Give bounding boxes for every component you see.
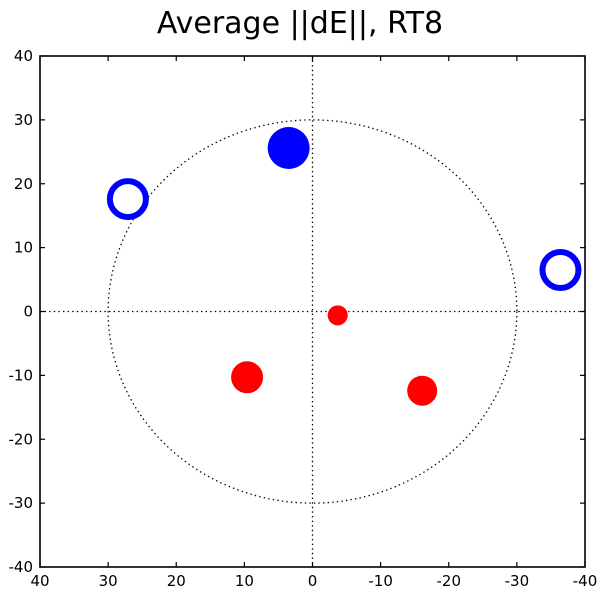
y-tick-label: 40 (14, 47, 33, 65)
data-point-red-center (328, 305, 348, 325)
data-point-blue-filled-top (268, 127, 310, 169)
y-tick-label: 10 (14, 239, 33, 257)
x-tick-label: -10 (368, 572, 393, 590)
chart-figure: Average ||dE||, RT8 403020100-10-20-30-4… (0, 0, 600, 600)
y-tick-label: -10 (9, 366, 34, 384)
y-tick-label: -40 (9, 558, 34, 576)
y-tick-label: 0 (23, 303, 33, 321)
x-tick-label: 10 (235, 572, 254, 590)
x-tick-label: -30 (505, 572, 530, 590)
x-tick-label: 30 (99, 572, 118, 590)
x-tick-label: -40 (573, 572, 598, 590)
y-tick-label: 30 (14, 111, 33, 129)
x-tick-label: -20 (437, 572, 462, 590)
y-tick-label: -20 (9, 430, 34, 448)
x-tick-label: 20 (167, 572, 186, 590)
scatter-plot-canvas: 403020100-10-20-30-40-40-30-20-100102030… (0, 0, 600, 600)
data-point-red-lower-left (231, 361, 263, 393)
y-tick-label: -30 (9, 494, 34, 512)
x-tick-label: 0 (308, 572, 318, 590)
y-tick-label: 20 (14, 175, 33, 193)
data-point-red-lower-right (407, 376, 437, 406)
x-tick-label: 40 (30, 572, 49, 590)
